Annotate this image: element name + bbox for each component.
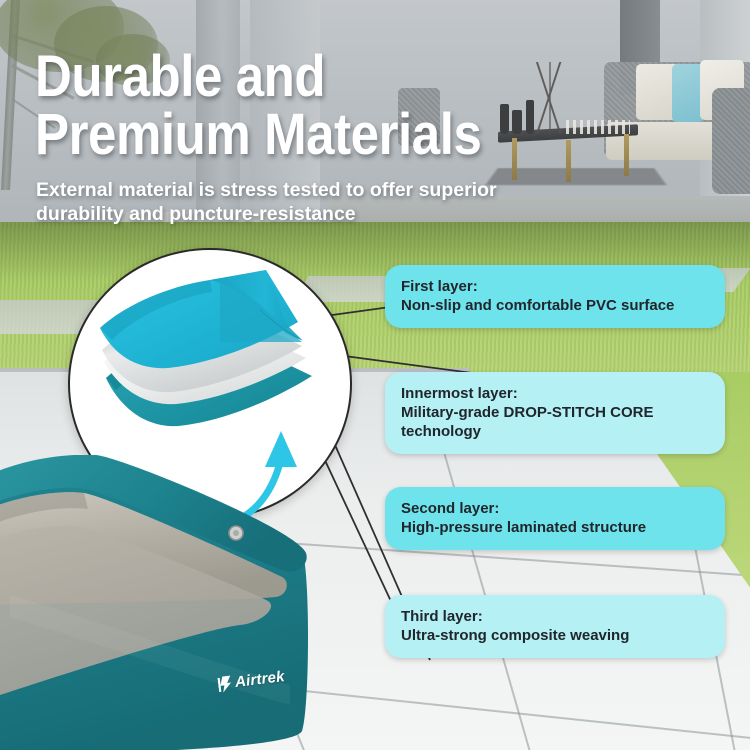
callout-first-layer[interactable]: First layer: Non-slip and comfortable PV…: [385, 265, 725, 328]
callout-innermost-layer[interactable]: Innermost layer: Military-grade DROP-STI…: [385, 372, 725, 454]
page-subtitle: External material is stress tested to of…: [36, 178, 636, 226]
callout-title: First layer:: [401, 277, 709, 296]
patio-sofa-arm: [712, 88, 750, 194]
product-infographic-poster: First layer: Non-slip and comfortable PV…: [0, 0, 750, 750]
callout-title: Second layer:: [401, 499, 709, 518]
callout-description: Non-slip and comfortable PVC surface: [401, 296, 709, 315]
coffee-table-leg: [624, 134, 629, 176]
callout-third-layer[interactable]: Third layer: Ultra-strong composite weav…: [385, 595, 725, 658]
page-title: Durable and Premium Materials: [35, 48, 598, 164]
airtrek-a-mark-icon: [217, 675, 233, 693]
callout-description: High-pressure laminated structure: [401, 518, 709, 537]
callout-title: Third layer:: [401, 607, 709, 626]
callout-description: Ultra-strong composite weaving: [401, 626, 709, 645]
callout-description: Military-grade DROP-STITCH CORE technolo…: [401, 403, 709, 441]
callout-title: Innermost layer:: [401, 384, 709, 403]
callout-second-layer[interactable]: Second layer: High-pressure laminated st…: [385, 487, 725, 550]
inflatable-tub-product: [0, 455, 330, 750]
